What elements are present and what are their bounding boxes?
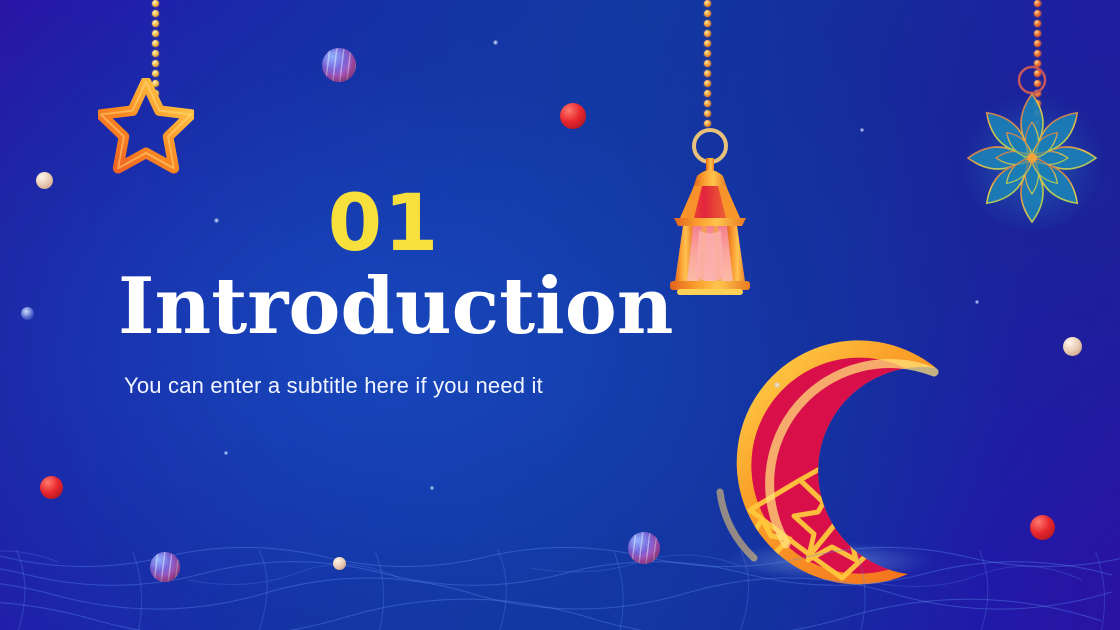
sphere-red-top bbox=[560, 103, 586, 129]
chain-bead bbox=[704, 40, 711, 47]
chain-bead bbox=[704, 110, 711, 117]
chain-bead bbox=[152, 10, 159, 17]
chain-bead bbox=[1034, 10, 1041, 17]
sphere-faint-left bbox=[21, 307, 34, 320]
chain-bead bbox=[704, 80, 711, 87]
chain-bead bbox=[704, 60, 711, 67]
hanging-flower-icon bbox=[945, 62, 1120, 237]
presentation-slide: 01 Introduction You can enter a subtitle… bbox=[0, 0, 1120, 630]
chain-bead bbox=[1034, 40, 1041, 47]
sphere-red-right bbox=[1030, 515, 1055, 540]
chain-bead bbox=[152, 60, 159, 67]
chain-bead bbox=[152, 50, 159, 57]
chain-lantern bbox=[704, 0, 711, 130]
chain-bead bbox=[152, 30, 159, 37]
page-title: Introduction bbox=[118, 267, 678, 347]
glow-dot-3 bbox=[774, 382, 780, 388]
sphere-striped-bottom-center bbox=[628, 532, 660, 564]
glow-dot-4 bbox=[975, 300, 979, 304]
chain-bead bbox=[1034, 50, 1041, 57]
sphere-red-left bbox=[40, 476, 63, 499]
chain-bead bbox=[704, 70, 711, 77]
slide-text-block: 01 Introduction You can enter a subtitle… bbox=[118, 185, 678, 399]
chain-bead bbox=[1034, 0, 1041, 7]
sphere-cream-left bbox=[36, 172, 53, 189]
chain-bead bbox=[152, 70, 159, 77]
chain-bead bbox=[704, 50, 711, 57]
chain-bead bbox=[704, 100, 711, 107]
glow-dot-5 bbox=[430, 486, 434, 490]
chain-bead bbox=[704, 20, 711, 27]
sphere-striped-bottom-left bbox=[150, 552, 180, 582]
chain-bead bbox=[1034, 20, 1041, 27]
chain-bead bbox=[152, 20, 159, 27]
section-number: 01 bbox=[288, 185, 480, 263]
sphere-striped-top bbox=[322, 48, 356, 82]
sphere-cream-right bbox=[1063, 337, 1082, 356]
glow-dot-2 bbox=[860, 128, 864, 132]
glow-dot-6 bbox=[224, 451, 228, 455]
sphere-cream-bottom bbox=[333, 557, 346, 570]
chain-bead bbox=[704, 90, 711, 97]
chain-bead bbox=[1034, 30, 1041, 37]
slide-subtitle: You can enter a subtitle here if you nee… bbox=[124, 373, 678, 399]
chain-bead bbox=[152, 0, 159, 7]
chain-bead bbox=[704, 10, 711, 17]
chain-bead bbox=[704, 0, 711, 7]
chain-bead bbox=[704, 30, 711, 37]
hanging-star-icon bbox=[98, 78, 194, 174]
chain-bead bbox=[152, 40, 159, 47]
glow-dot-0 bbox=[493, 40, 498, 45]
